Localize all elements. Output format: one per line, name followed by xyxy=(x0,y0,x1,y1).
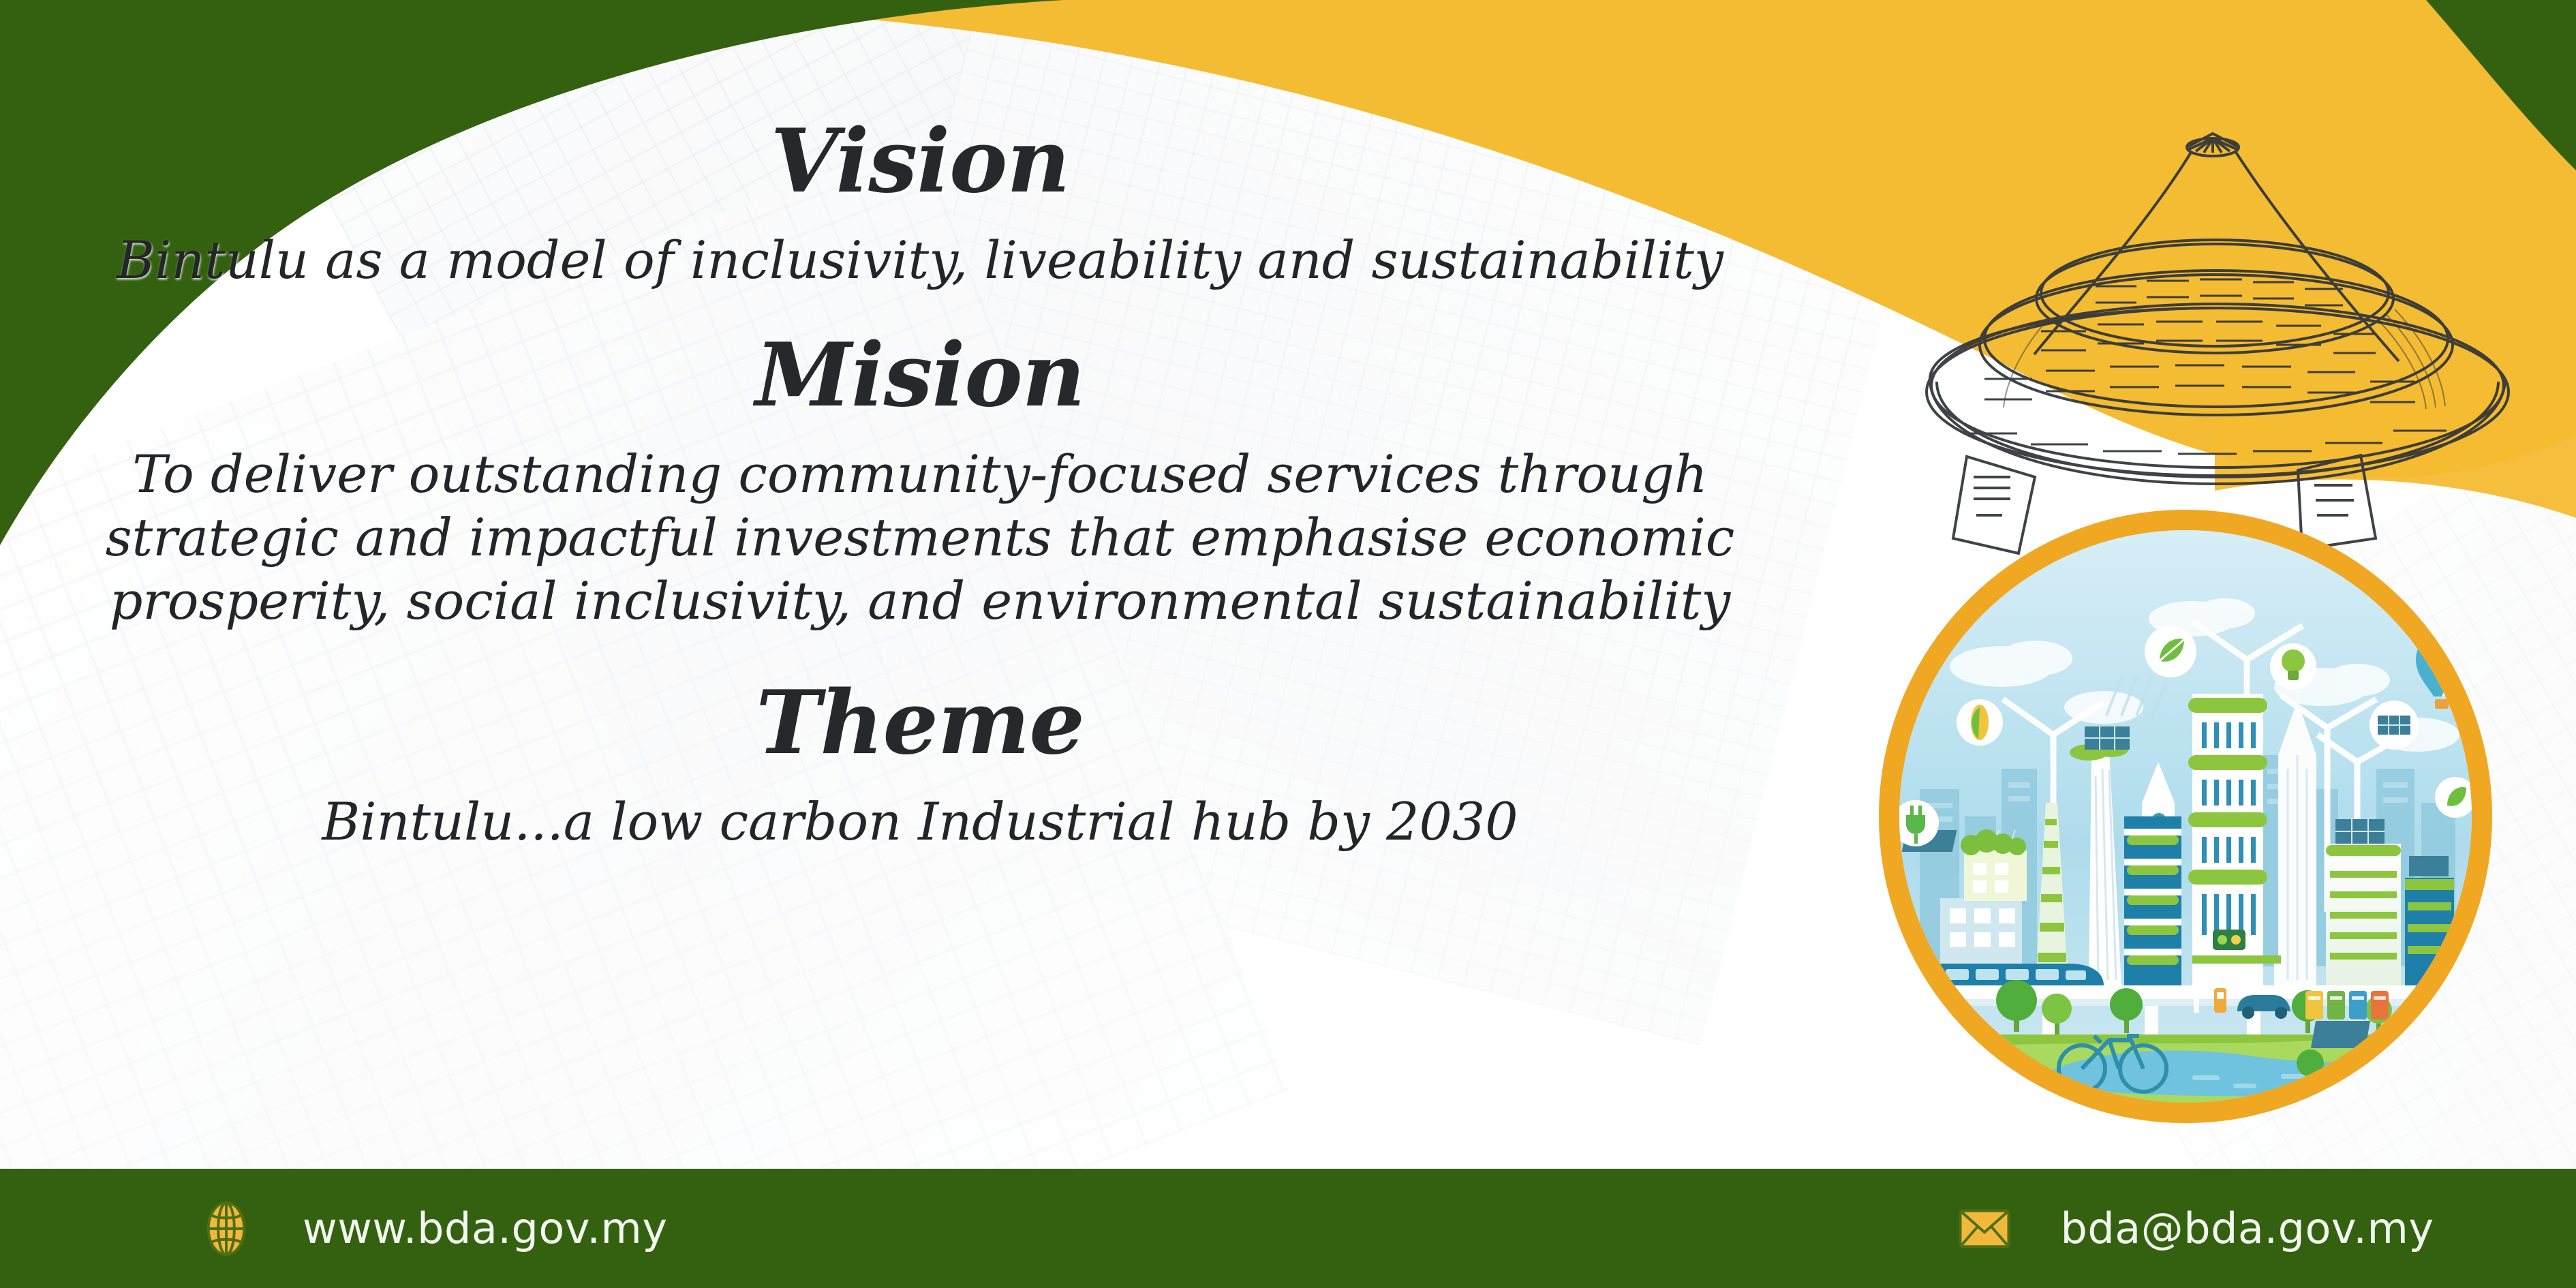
banner-root: Vision Bintulu as a model of inclusivity… xyxy=(0,0,2576,1288)
mission-heading: Mision xyxy=(0,330,1840,423)
light-bulb-badge xyxy=(2270,643,2316,690)
content-column: Vision Bintulu as a model of inclusivity… xyxy=(0,0,1840,1169)
theme-heading: Theme xyxy=(0,677,1840,770)
vision-line-1: Bintulu as a model of inclusivity, livea… xyxy=(0,229,1840,292)
corn-badge xyxy=(1957,699,2003,746)
eco-city-illustration xyxy=(1899,530,2472,1103)
mission-line-2: strategic and impactful investments that… xyxy=(0,506,1840,570)
mission-line-1: To deliver outstanding community-focused… xyxy=(0,443,1840,506)
vision-heading: Vision xyxy=(0,116,1840,209)
section-mission: Mision To deliver outstanding community-… xyxy=(0,330,1840,632)
eco-city-circle xyxy=(1879,510,2492,1123)
section-theme: Theme Bintulu...a low carbon Industrial … xyxy=(0,677,1840,853)
envelope-icon xyxy=(1956,1200,2013,1257)
traffic-sign xyxy=(2213,930,2245,950)
footer-bar: www.bda.gov.my bda@bda.gov.my xyxy=(0,1169,2576,1288)
far-right-solar-panel xyxy=(2409,856,2449,876)
solar-badge-right xyxy=(2370,701,2419,750)
footer-website-item[interactable]: www.bda.gov.my xyxy=(198,1200,668,1257)
email-label: bda@bda.gov.my xyxy=(2061,1203,2434,1253)
leaf-badge xyxy=(2145,626,2196,677)
footer-email-item[interactable]: bda@bda.gov.my xyxy=(1956,1200,2434,1257)
mission-line-3: prosperity, social inclusivity, and envi… xyxy=(0,570,1840,633)
section-vision: Vision Bintulu as a model of inclusivity… xyxy=(0,116,1840,292)
theme-line-1: Bintulu...a low carbon Industrial hub by… xyxy=(0,791,1840,854)
website-label: www.bda.gov.my xyxy=(303,1203,668,1253)
globe-icon xyxy=(198,1200,255,1257)
